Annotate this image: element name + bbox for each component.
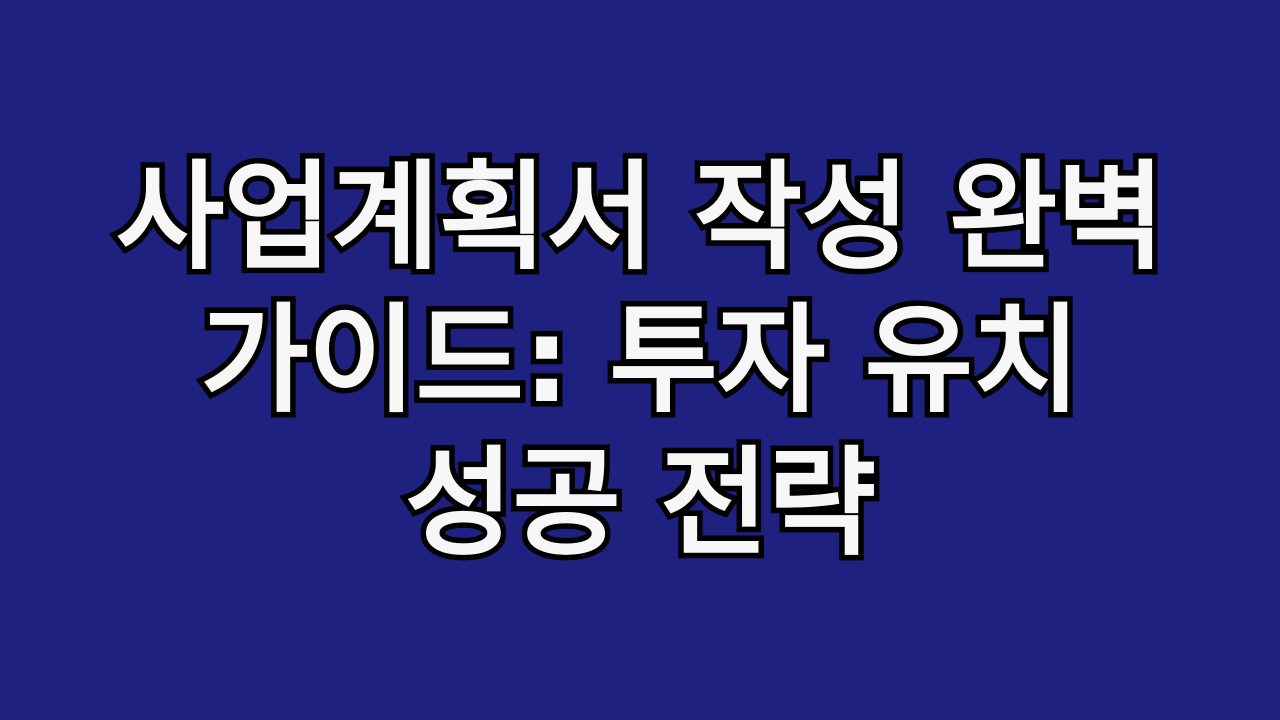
title-text-block: 사업계획서 작성 완벽 가이드: 투자 유치 성공 전략 [0, 146, 1280, 575]
title-card: 사업계획서 작성 완벽 가이드: 투자 유치 성공 전략 [0, 0, 1280, 720]
title-line-3: 성공 전략 [24, 432, 1256, 575]
title-line-2: 가이드: 투자 유치 [24, 289, 1256, 432]
title-line-1: 사업계획서 작성 완벽 [24, 146, 1256, 289]
